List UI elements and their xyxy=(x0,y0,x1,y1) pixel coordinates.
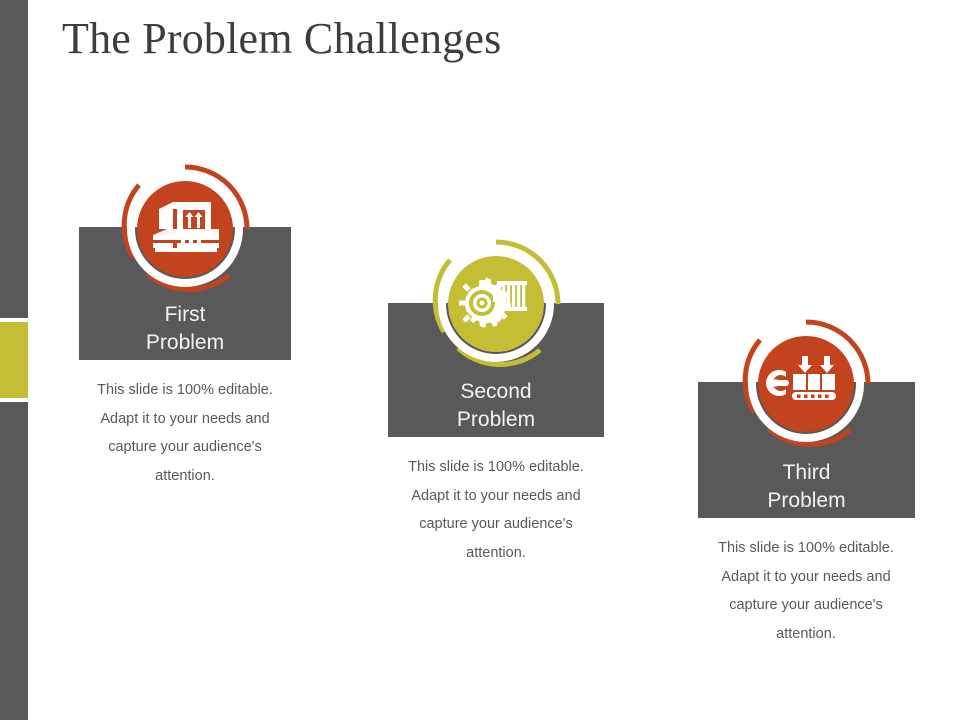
left-sidebar-strip xyxy=(0,0,28,720)
card-heading-first-line1: First xyxy=(79,301,291,328)
card-body-third: This slide is 100% editable. Adapt it to… xyxy=(691,534,921,648)
card-heading-first-line2: Problem xyxy=(79,329,291,356)
pallet-box-icon xyxy=(153,202,219,252)
card-body-line: This slide is 100% editable. xyxy=(691,534,921,563)
card-body-line: capture your audience's xyxy=(381,510,611,539)
card-body-first: This slide is 100% editable. Adapt it to… xyxy=(70,376,300,490)
card-heading-third-line1: Third xyxy=(698,459,915,486)
card-body-line: Adapt it to your needs and xyxy=(70,405,300,434)
card-body-line: This slide is 100% editable. xyxy=(70,376,300,405)
card-body-line: capture your audience's xyxy=(691,591,921,620)
page-title: The Problem Challenges xyxy=(62,12,501,66)
card-body-second: This slide is 100% editable. Adapt it to… xyxy=(381,453,611,567)
card-body-line: attention. xyxy=(691,620,921,649)
badge-third[interactable] xyxy=(740,318,872,450)
card-body-line: Adapt it to your needs and xyxy=(381,482,611,511)
card-body-line: Adapt it to your needs and xyxy=(691,563,921,592)
left-sidebar-accent-block xyxy=(0,322,28,398)
badge-second[interactable] xyxy=(430,238,562,370)
card-heading-second-line2: Problem xyxy=(388,406,604,433)
card-heading-third-line2: Problem xyxy=(698,487,915,514)
card-heading-second-line1: Second xyxy=(388,378,604,405)
card-body-line: attention. xyxy=(381,539,611,568)
card-body-line: This slide is 100% editable. xyxy=(381,453,611,482)
card-body-line: attention. xyxy=(70,462,300,491)
badge-first[interactable] xyxy=(119,163,251,295)
card-body-line: capture your audience's xyxy=(70,433,300,462)
